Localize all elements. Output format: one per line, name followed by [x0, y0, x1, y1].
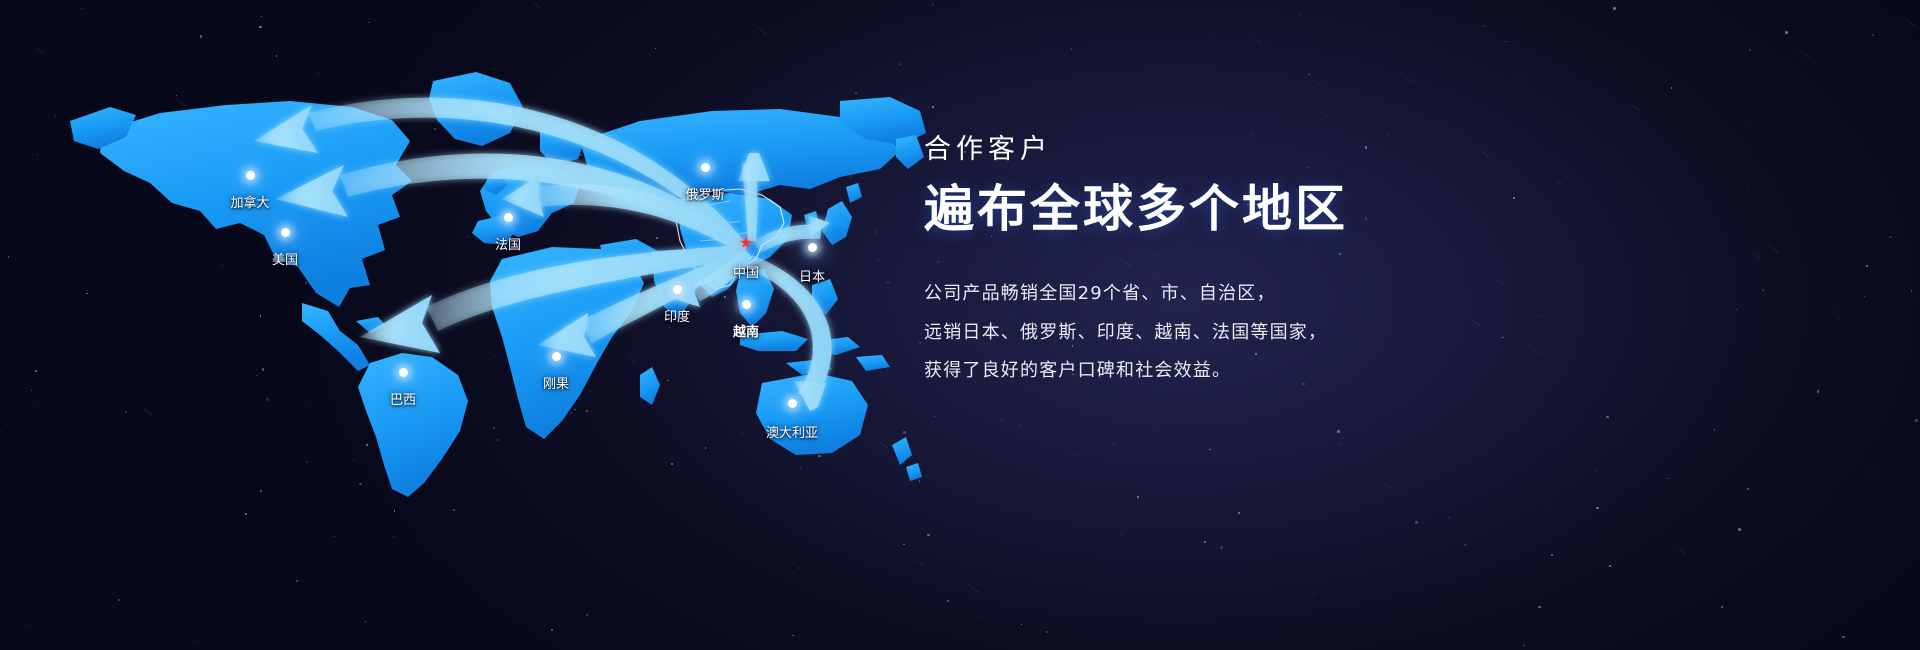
map-marker-dot-澳大利亚	[788, 399, 797, 408]
map-label-日本: 日本	[799, 271, 825, 284]
map-label-巴西: 巴西	[390, 394, 416, 407]
subtitle: 合作客户	[924, 134, 1804, 166]
map-marker-dot-美国	[281, 228, 290, 237]
map-marker-dot-加拿大	[246, 171, 255, 180]
world-map: 加拿大美国巴西法国刚果俄罗斯印度★中国日本越南澳大利亚	[40, 45, 940, 525]
map-marker-dot-俄罗斯	[701, 163, 710, 172]
map-label-中国: 中国	[733, 267, 759, 280]
map-marker-dot-越南	[742, 300, 751, 309]
map-label-法国: 法国	[495, 239, 521, 252]
map-label-刚果: 刚果	[543, 378, 569, 391]
description-line: 获得了良好的客户口碑和社会效益。	[924, 360, 1804, 383]
map-label-美国: 美国	[272, 254, 298, 267]
map-label-加拿大: 加拿大	[230, 197, 269, 210]
map-marker-dot-巴西	[399, 368, 408, 377]
map-marker-dot-日本	[808, 243, 817, 252]
global-clients-banner: 加拿大美国巴西法国刚果俄罗斯印度★中国日本越南澳大利亚 合作客户 遍布全球多个地…	[0, 0, 1920, 650]
world-map-svg	[40, 45, 940, 525]
description-line: 远销日本、俄罗斯、印度、越南、法国等国家，	[924, 322, 1804, 345]
map-label-俄罗斯: 俄罗斯	[685, 189, 724, 202]
copy-block: 合作客户 遍布全球多个地区 公司产品畅销全国29个省、市、自治区，远销日本、俄罗…	[924, 134, 1804, 383]
map-label-澳大利亚: 澳大利亚	[766, 427, 818, 440]
page-title: 遍布全球多个地区	[924, 180, 1804, 239]
description-line: 公司产品畅销全国29个省、市、自治区，	[924, 283, 1804, 306]
map-marker-dot-法国	[504, 213, 513, 222]
map-marker-dot-印度	[673, 285, 682, 294]
map-label-越南: 越南	[733, 326, 759, 339]
description-paragraph: 公司产品畅销全国29个省、市、自治区，远销日本、俄罗斯、印度、越南、法国等国家，…	[924, 283, 1804, 383]
map-marker-dot-刚果	[552, 352, 561, 361]
map-label-印度: 印度	[664, 311, 690, 324]
map-marker-star-中国: ★	[739, 236, 752, 251]
